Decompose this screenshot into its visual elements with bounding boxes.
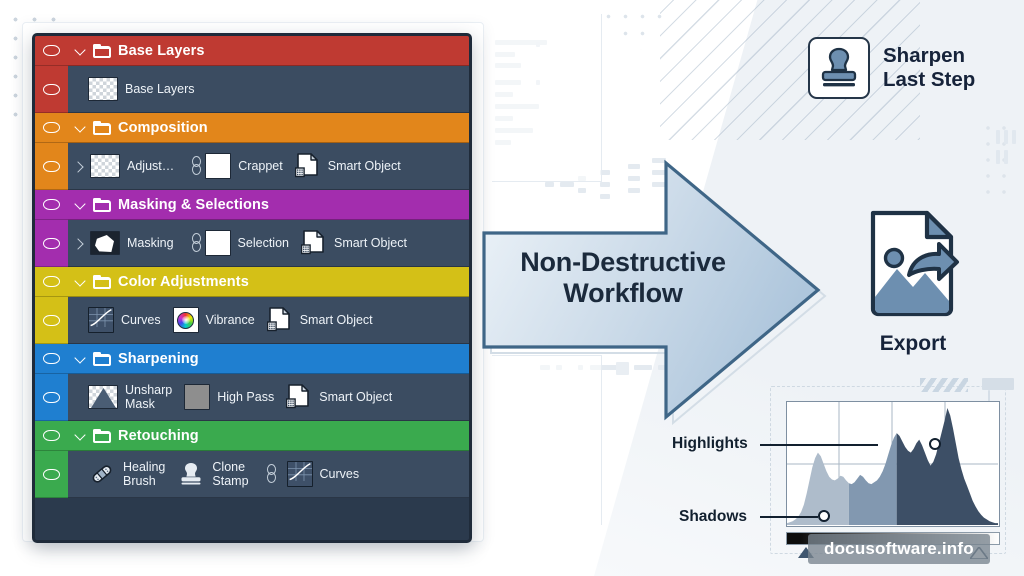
mask-thumbnail[interactable] bbox=[205, 153, 231, 179]
clone-stamp-icon bbox=[808, 37, 870, 99]
layer-item-label: Smart Object bbox=[300, 313, 373, 327]
chevron-down-icon[interactable] bbox=[75, 353, 86, 364]
eye-visibility-icon bbox=[43, 161, 60, 172]
layer-item-label: Smart Object bbox=[328, 159, 401, 173]
layer-row[interactable]: Base Layers bbox=[35, 66, 469, 113]
color-wheel-thumbnail[interactable] bbox=[173, 307, 199, 333]
smart-object-icon bbox=[267, 306, 293, 334]
eye-visibility-icon bbox=[43, 122, 60, 133]
eye-visibility-icon bbox=[43, 84, 60, 95]
eye-visibility-icon bbox=[43, 392, 60, 403]
curves-thumbnail[interactable] bbox=[88, 307, 114, 333]
layer-group-title: Composition bbox=[118, 120, 208, 136]
highlights-callout-line bbox=[760, 444, 878, 446]
layer-item[interactable]: Smart Object bbox=[295, 152, 403, 180]
layer-item[interactable]: Selection bbox=[205, 230, 291, 256]
layer-item-label: Masking bbox=[127, 236, 174, 250]
layer-item[interactable]: Curves bbox=[261, 461, 362, 487]
folder-icon bbox=[93, 429, 111, 443]
layer-item-label: High Pass bbox=[217, 390, 274, 404]
layer-item-label: Selection bbox=[238, 236, 289, 250]
eye-visibility-icon bbox=[43, 45, 60, 56]
layer-group-title: Base Layers bbox=[118, 43, 205, 59]
sharpen-last-step-badge[interactable]: Sharpen Last Step bbox=[808, 37, 975, 99]
layer-visibility-toggle[interactable] bbox=[35, 113, 68, 143]
chevron-down-icon[interactable] bbox=[75, 430, 86, 441]
layer-item[interactable]: Adjust… bbox=[90, 154, 176, 178]
decor-tick-e bbox=[1004, 150, 1008, 164]
folder-icon bbox=[93, 275, 111, 289]
smart-object-icon bbox=[295, 152, 321, 180]
eye-visibility-icon bbox=[43, 315, 60, 326]
link-chain-icon[interactable] bbox=[191, 155, 200, 177]
folder-icon bbox=[93, 121, 111, 135]
clone-stamp-icon bbox=[177, 461, 205, 487]
decor-tick-d bbox=[996, 150, 1000, 164]
layer-item-label: Healing Brush bbox=[123, 460, 165, 488]
high-pass-thumbnail[interactable] bbox=[184, 384, 210, 410]
eye-visibility-icon bbox=[43, 353, 60, 364]
layer-visibility-toggle[interactable] bbox=[35, 344, 68, 374]
eye-visibility-icon bbox=[43, 199, 60, 210]
layer-group-header[interactable]: Color Adjustments bbox=[35, 267, 469, 297]
chevron-down-icon[interactable] bbox=[75, 45, 86, 56]
selection-thumbnail[interactable] bbox=[205, 230, 231, 256]
layer-item[interactable]: High Pass bbox=[184, 384, 276, 410]
layer-group-header[interactable]: Retouching bbox=[35, 421, 469, 451]
folder-icon bbox=[93, 44, 111, 58]
folder-icon bbox=[93, 352, 111, 366]
highlights-callout-label: Highlights bbox=[672, 435, 748, 453]
layer-group-title: Retouching bbox=[118, 428, 199, 444]
layer-item-label: Smart Object bbox=[334, 236, 407, 250]
layer-visibility-toggle[interactable] bbox=[35, 297, 68, 344]
histogram-plot bbox=[786, 401, 1000, 527]
chevron-right-icon[interactable] bbox=[74, 161, 85, 172]
watermark: docusoftware.info bbox=[808, 534, 990, 564]
chevron-right-icon[interactable] bbox=[74, 238, 85, 249]
layer-item[interactable]: Vibrance bbox=[173, 307, 257, 333]
layer-group-header[interactable]: Sharpening bbox=[35, 344, 469, 374]
layer-visibility-toggle[interactable] bbox=[35, 66, 68, 113]
layer-group-header[interactable]: Masking & Selections bbox=[35, 190, 469, 220]
layer-row[interactable]: CurvesVibranceSmart Object bbox=[35, 297, 469, 344]
decor-tick-b bbox=[1004, 130, 1008, 144]
layer-item-label: Clone Stamp bbox=[212, 460, 248, 488]
layer-item-label: Base Layers bbox=[125, 82, 194, 96]
layer-item-label: Adjust… bbox=[127, 159, 174, 173]
shadows-callout-label: Shadows bbox=[679, 508, 747, 526]
layer-item[interactable]: Smart Object bbox=[301, 229, 409, 257]
decor-tick-c bbox=[1012, 130, 1016, 144]
adjustment-thumbnail[interactable] bbox=[90, 154, 120, 178]
eye-visibility-icon bbox=[43, 276, 60, 287]
layer-item[interactable]: Healing Brush bbox=[88, 460, 167, 488]
link-chain-icon[interactable] bbox=[191, 232, 200, 254]
layer-visibility-toggle[interactable] bbox=[35, 220, 68, 267]
smart-object-icon bbox=[286, 383, 312, 411]
decor-tick-a bbox=[996, 130, 1000, 144]
smart-object-icon bbox=[301, 229, 327, 257]
folder-icon bbox=[93, 198, 111, 212]
unsharp-mask-thumbnail[interactable] bbox=[88, 385, 118, 409]
layer-visibility-toggle[interactable] bbox=[35, 190, 68, 220]
highlights-handle[interactable] bbox=[929, 438, 941, 450]
layer-item-label: Vibrance bbox=[206, 313, 255, 327]
layer-row[interactable]: Unsharp MaskHigh PassSmart Object bbox=[35, 374, 469, 421]
layer-item[interactable]: Unsharp Mask bbox=[88, 383, 174, 411]
layer-item[interactable]: Masking bbox=[90, 231, 176, 255]
layer-item[interactable]: Crappet bbox=[205, 153, 284, 179]
layer-item[interactable]: Clone Stamp bbox=[177, 460, 250, 488]
layer-item[interactable]: Base Layers bbox=[88, 77, 196, 101]
link-chain-icon[interactable] bbox=[266, 463, 275, 485]
export-label: Export bbox=[843, 332, 983, 356]
layer-row[interactable]: Healing BrushClone StampCurves bbox=[35, 451, 469, 498]
curves-thumbnail[interactable] bbox=[287, 461, 313, 487]
tonal-histogram[interactable] bbox=[786, 401, 1000, 531]
layer-item[interactable]: Smart Object bbox=[286, 383, 394, 411]
layer-visibility-toggle[interactable] bbox=[35, 374, 68, 421]
chevron-down-icon[interactable] bbox=[75, 199, 86, 210]
sharpen-label: Sharpen Last Step bbox=[883, 44, 975, 92]
image-export-icon bbox=[851, 205, 975, 323]
layer-group-title: Color Adjustments bbox=[118, 274, 249, 290]
shadows-handle[interactable] bbox=[818, 510, 830, 522]
layer-item-label: Curves bbox=[121, 313, 161, 327]
healing-brush-icon bbox=[88, 461, 116, 487]
layer-visibility-toggle[interactable] bbox=[35, 451, 68, 498]
layer-group-title: Sharpening bbox=[118, 351, 199, 367]
eye-visibility-icon bbox=[43, 430, 60, 441]
layer-item-label: Unsharp Mask bbox=[125, 383, 172, 411]
eye-visibility-icon bbox=[43, 238, 60, 249]
layer-mask-thumbnail[interactable] bbox=[90, 231, 120, 255]
layer-visibility-toggle[interactable] bbox=[35, 267, 68, 297]
layer-group-header[interactable]: Base Layers bbox=[35, 36, 469, 66]
layer-row[interactable]: Adjust…CrappetSmart Object bbox=[35, 143, 469, 190]
layer-item[interactable]: Curves bbox=[88, 307, 163, 333]
layer-row[interactable]: MaskingSelectionSmart Object bbox=[35, 220, 469, 267]
layer-group-title: Masking & Selections bbox=[118, 197, 269, 213]
workflow-arrow: Non-Destructive Workflow bbox=[470, 155, 830, 425]
decor-bar-right bbox=[982, 378, 1014, 390]
eye-visibility-icon bbox=[43, 469, 60, 480]
layer-item-label: Curves bbox=[320, 467, 360, 481]
screenshot-root: Base LayersBase LayersCompositionAdjust…… bbox=[0, 0, 1024, 576]
export-block[interactable]: Export bbox=[843, 205, 983, 356]
transparent-thumbnail[interactable] bbox=[88, 77, 118, 101]
layer-group-header[interactable]: Composition bbox=[35, 113, 469, 143]
layer-item-label: Smart Object bbox=[319, 390, 392, 404]
chevron-down-icon[interactable] bbox=[75, 276, 86, 287]
layer-item[interactable]: Smart Object bbox=[267, 306, 375, 334]
layer-visibility-toggle[interactable] bbox=[35, 36, 68, 66]
decor-stripes bbox=[920, 378, 968, 392]
layers-panel[interactable]: Base LayersBase LayersCompositionAdjust…… bbox=[32, 33, 472, 543]
chevron-down-icon[interactable] bbox=[75, 122, 86, 133]
layer-visibility-toggle[interactable] bbox=[35, 143, 68, 190]
shadows-callout-line bbox=[760, 516, 818, 518]
arrow-title: Non-Destructive Workflow bbox=[498, 247, 748, 310]
layer-visibility-toggle[interactable] bbox=[35, 421, 68, 451]
layer-item-label: Crappet bbox=[238, 159, 282, 173]
